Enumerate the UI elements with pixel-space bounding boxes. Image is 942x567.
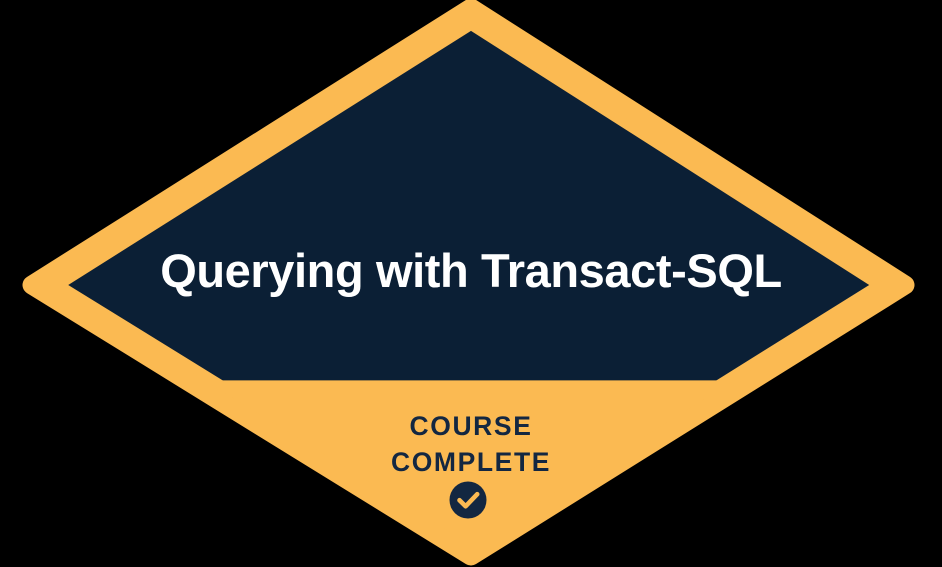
check-badge-circle: [450, 482, 487, 519]
check-badge: [450, 482, 487, 519]
course-completion-badge: Querying with Transact-SQL COURSE COMPLE…: [0, 0, 942, 567]
diamond-emblem-graphic: [0, 0, 942, 567]
